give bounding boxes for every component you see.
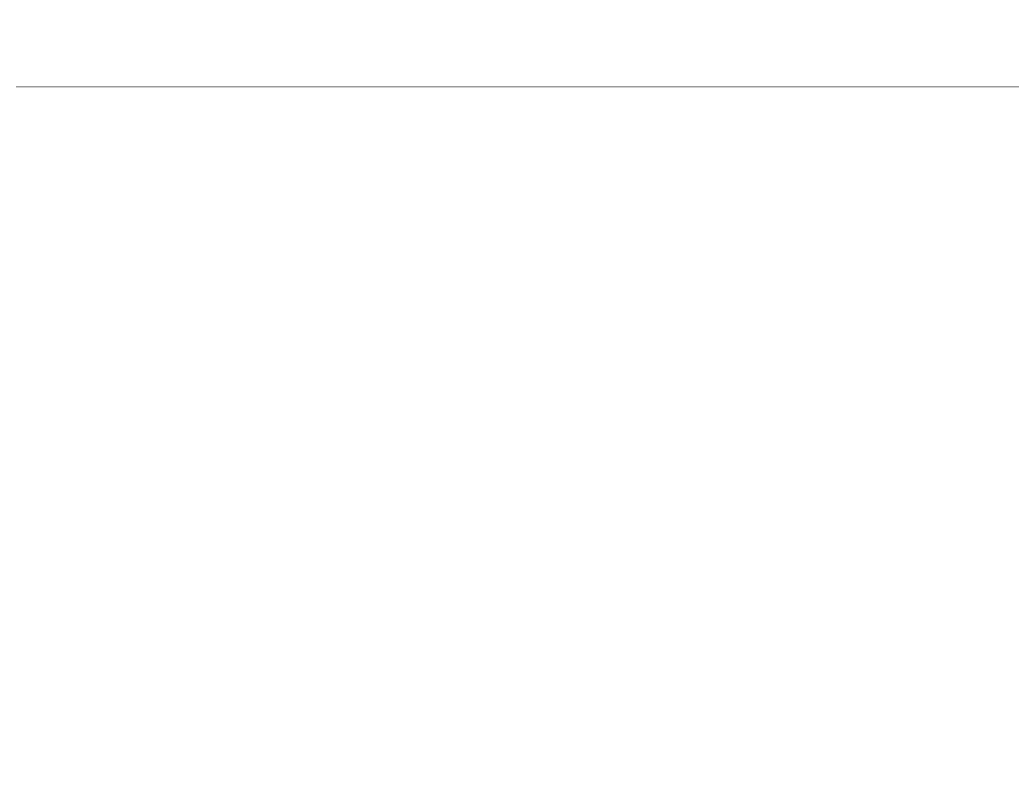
header-divider — [16, 86, 1019, 88]
